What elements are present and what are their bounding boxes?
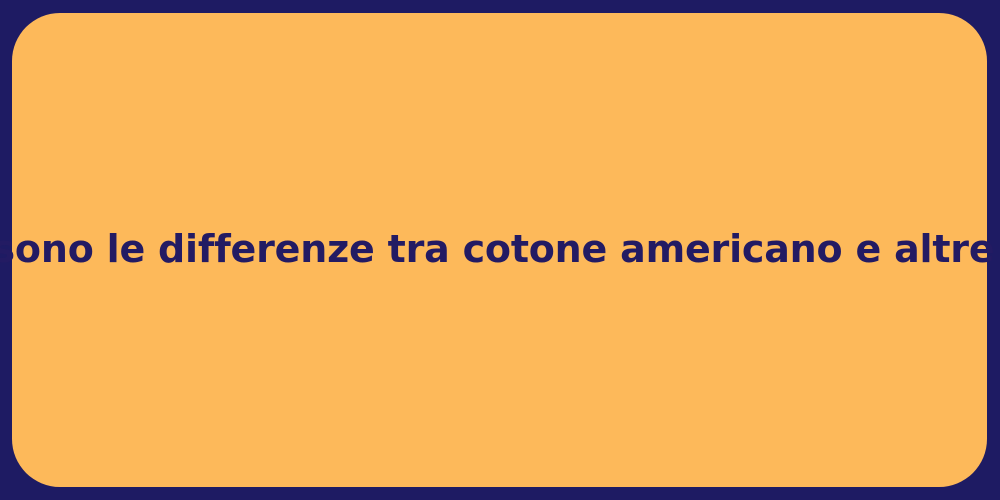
question-card-panel: Quali sono le differenze tra cotone amer… [12, 13, 987, 487]
question-card-frame: Quali sono le differenze tra cotone amer… [0, 0, 1000, 500]
question-heading: Quali sono le differenze tra cotone amer… [0, 227, 1000, 273]
